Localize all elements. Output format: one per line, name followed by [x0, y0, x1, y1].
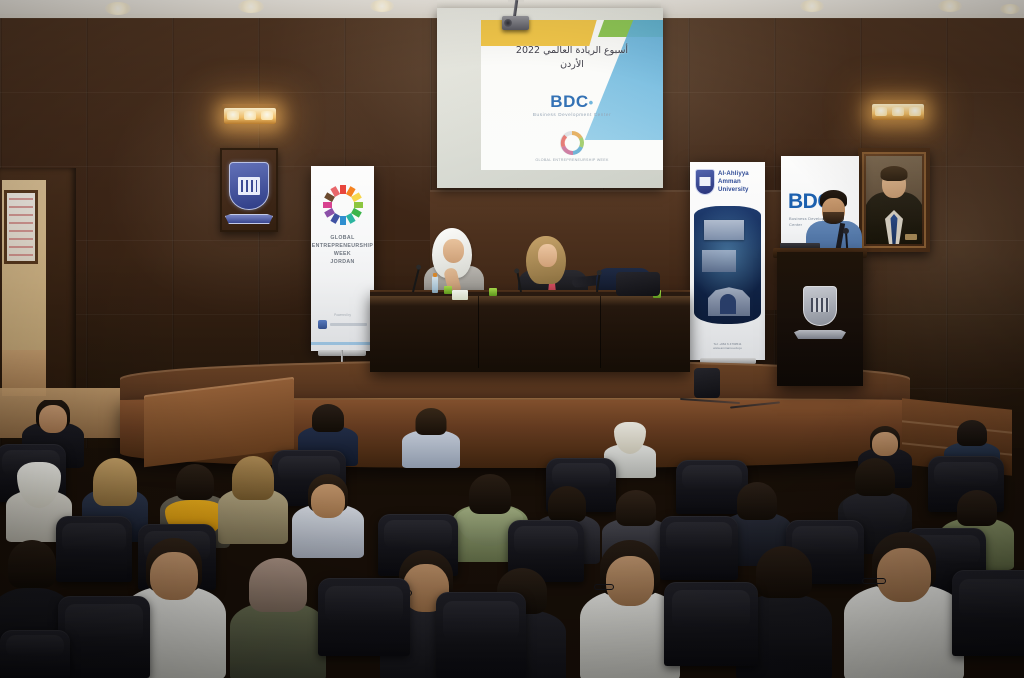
conference-hall-scene: أسبوع الريادة العالمي 2022 الأردن BDC• B… — [0, 0, 1024, 678]
slide-title: أسبوع الريادة العالمي 2022 الأردن — [481, 44, 663, 72]
crest-ribbon — [225, 214, 273, 224]
panel-table-segment — [600, 296, 601, 368]
attendee-hair — [548, 486, 586, 522]
attendee-hair — [756, 546, 812, 598]
podium — [777, 252, 863, 386]
ceiling-downlight — [370, 0, 394, 12]
portrait-nameplate — [905, 234, 917, 240]
auditorium-seat[interactable] — [664, 582, 758, 666]
tissue-box — [452, 290, 468, 300]
attendee-hair — [416, 408, 447, 435]
aau-name-line1: Al-Ahliyya — [718, 170, 749, 178]
ceiling-downlight — [938, 0, 962, 12]
gew-sponsor-wordmark — [330, 323, 367, 326]
attendee-hair — [737, 482, 777, 520]
projector-lens-icon — [504, 19, 512, 27]
attendee-hair — [232, 456, 274, 500]
attendee-hair — [249, 558, 307, 612]
slide-footer-text: GLOBAL ENTREPRENEURSHIP WEEK — [481, 158, 663, 162]
ceiling-downlight — [800, 0, 824, 12]
attendee-head — [150, 552, 198, 600]
ceiling-downlight — [105, 2, 131, 15]
slide-bdc-tagline: Business Development Center — [481, 112, 663, 117]
wall-lamp — [261, 111, 273, 120]
panelist-hijab-face — [443, 239, 464, 263]
podium-crest-icon — [803, 286, 837, 326]
wall-lamp — [244, 111, 256, 120]
slide-bdc-logo-dot: • — [589, 95, 594, 110]
wall-light-right — [872, 104, 924, 120]
aau-name-line2: Amman — [718, 178, 749, 186]
auditorium-seat[interactable] — [952, 570, 1024, 656]
auditorium-seat[interactable] — [318, 578, 410, 656]
gew-line-1: GLOBAL — [311, 234, 374, 242]
podium-speaker-beard — [823, 212, 844, 224]
panelist-blonde-face — [538, 244, 557, 267]
bag-on-floor — [694, 368, 720, 398]
attendee-head — [311, 484, 345, 518]
podium-crest-ribbon — [794, 330, 846, 339]
crest-book-icon — [238, 177, 260, 195]
gew-line-4: JORDAN — [311, 258, 374, 266]
aau-campus-photo-collage — [694, 206, 761, 324]
ceiling-downlight — [1000, 4, 1020, 14]
projected-slide: أسبوع الريادة العالمي 2022 الأردن BDC• B… — [481, 20, 663, 170]
projection-screen: أسبوع الريادة العالمي 2022 الأردن BDC• B… — [437, 8, 663, 188]
green-cup — [489, 288, 497, 296]
aau-footer-web: www.ammanu.edu.jo — [690, 346, 765, 351]
bag-on-table — [616, 272, 660, 296]
wall-lamp — [892, 107, 904, 116]
audience-member — [844, 532, 964, 678]
framed-portrait — [858, 148, 930, 252]
aau-banner-name: Al-Ahliyya Amman University — [718, 169, 749, 193]
audience-member — [402, 408, 460, 468]
portrait-hair — [881, 166, 908, 181]
aau-campus-gate-arch — [720, 294, 736, 314]
eyeglasses-icon — [862, 578, 886, 584]
aau-banner-header: Al-Ahliyya Amman University — [695, 169, 761, 203]
attendee-hair — [93, 458, 137, 506]
gew-line-3: WEEK — [311, 250, 374, 258]
aau-name-line3: University — [718, 186, 749, 194]
banner-global-entrepreneurship-week: GLOBAL ENTREPRENEURSHIP WEEK JORDAN Powe… — [311, 166, 374, 351]
wall-light-left — [224, 108, 276, 124]
gew-line-2: ENTREPRENEURSHIP — [311, 242, 374, 250]
auditorium-seat[interactable] — [58, 596, 150, 678]
banner-alahliyya-amman-university: Al-Ahliyya Amman University Tel: +962 6 … — [690, 162, 765, 360]
portrait-image — [866, 156, 922, 244]
aau-banner-footer: Tel: +962 6 4799511 www.ammanu.edu.jo — [690, 342, 765, 351]
attendee-torso — [230, 602, 326, 678]
slide-title-line2: الأردن — [481, 58, 663, 72]
wall-lamp — [875, 107, 887, 116]
notice-board-text-lines — [9, 198, 33, 256]
attendee-hair — [855, 458, 895, 496]
attendee-hair — [957, 490, 997, 526]
wall-crest-plaque — [220, 148, 278, 232]
attendee-head — [872, 432, 898, 456]
aau-crest-icon — [695, 169, 715, 195]
wall-lamp — [227, 111, 239, 120]
gew-footer-bar — [311, 342, 374, 345]
gew-ring-logo-icon — [320, 182, 366, 233]
auditorium-seat[interactable] — [436, 592, 526, 678]
gew-caption: Powered by — [311, 313, 374, 317]
ceiling-projector — [500, 0, 530, 34]
attendee-hair — [957, 420, 987, 446]
attendee-hair — [8, 540, 56, 588]
audience-member — [292, 474, 364, 558]
attendee-hair — [469, 474, 511, 514]
aau-campus-building — [702, 250, 736, 272]
water-bottle — [432, 276, 438, 293]
attendee-head — [606, 556, 654, 606]
audience-member — [218, 456, 288, 544]
green-cup — [444, 286, 452, 294]
attendee-hair — [616, 490, 656, 526]
attendee-head — [877, 548, 931, 602]
aau-campus-building — [704, 220, 744, 240]
audience-member — [230, 558, 326, 678]
gew-sponsor-logos — [318, 319, 367, 329]
attendee-hair — [312, 404, 344, 432]
slide-swatch-blue — [585, 20, 663, 140]
gew-sponsor-icon — [318, 320, 327, 329]
attendee-head — [39, 405, 67, 433]
gew-banner-text: GLOBAL ENTREPRENEURSHIP WEEK JORDAN — [311, 234, 374, 266]
slide-bdc-logo-text: BDC — [550, 92, 588, 111]
slide-swatch-yellow — [481, 20, 597, 46]
attendee-hair — [176, 464, 214, 500]
eyeglasses-icon — [594, 584, 614, 590]
panel-table-segment — [478, 296, 479, 368]
attendee-torso — [402, 430, 460, 468]
panel-table-front-sheen — [370, 296, 690, 306]
wall-lamp — [909, 107, 921, 116]
ceiling-downlight — [238, 0, 264, 13]
slide-bdc-logo: BDC• — [481, 92, 663, 112]
slide-title-line1: أسبوع الريادة العالمي 2022 — [481, 44, 663, 58]
university-crest-icon — [229, 162, 269, 210]
audience-area — [0, 400, 1024, 678]
auditorium-seat[interactable] — [0, 630, 70, 678]
